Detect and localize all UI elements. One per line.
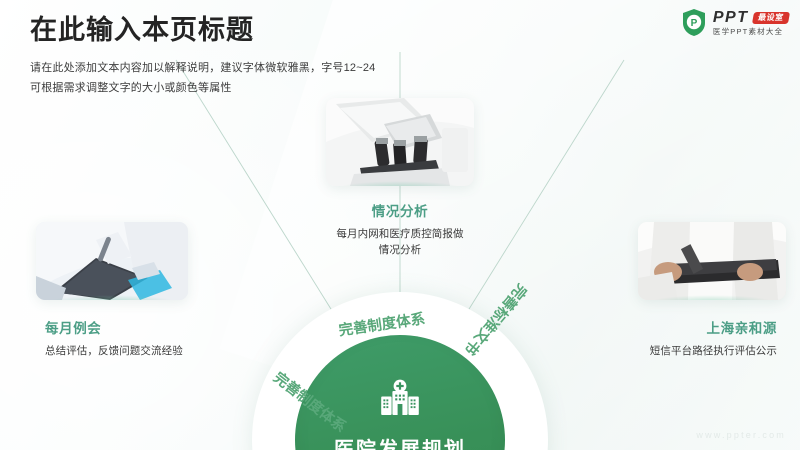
microscope-photo — [326, 98, 474, 186]
logo-badge: 最设室 — [751, 12, 789, 24]
logo-text: PPT 最设室 医学PPT素材大全 — [713, 10, 788, 36]
slide-canvas: 在此输入本页标题 请在此处添加文本内容加以解释说明，建议字体微软雅黑，字号12~… — [0, 0, 800, 450]
brand-logo[interactable]: P PPT 最设室 医学PPT素材大全 — [681, 8, 788, 37]
header: 在此输入本页标题 请在此处添加文本内容加以解释说明，建议字体微软雅黑，字号12~… — [30, 16, 550, 98]
logo-tagline: 医学PPT素材大全 — [713, 28, 788, 36]
card-monthly-meeting[interactable]: 每月例会 总结评估，反馈问题交流经验 — [36, 222, 251, 360]
card-desc-situation-analysis: 每月内网和医疗质控简报做 情况分析 — [279, 227, 521, 259]
card-title-monthly-meeting: 每月例会 — [45, 317, 251, 337]
watermark: www.ppter.com — [696, 430, 786, 440]
shield-icon: P — [681, 8, 707, 37]
subtitle-line-2: 可根据需求调整文字的大小或颜色等属性 — [30, 78, 550, 98]
svg-text:P: P — [691, 18, 698, 29]
card-title-situation-analysis: 情况分析 — [279, 200, 521, 220]
page-title: 在此输入本页标题 — [30, 16, 550, 46]
hospital-icon — [378, 379, 422, 424]
center-hub[interactable]: 医院发展规划 — [252, 292, 548, 450]
card-shanghai-qinheyuan[interactable]: 上海亲和源 短信平台路径执行评估公示 — [586, 222, 786, 360]
doctor-clipboard-photo — [638, 222, 786, 300]
card-desc-shanghai-qinheyuan: 短信平台路径执行评估公示 — [586, 344, 777, 360]
doctor-tablet-photo — [36, 222, 188, 300]
logo-brand-text: PPT — [713, 10, 749, 26]
card-title-shanghai-qinheyuan: 上海亲和源 — [586, 317, 777, 337]
subtitle-line-1: 请在此处添加文本内容加以解释说明，建议字体微软雅黑，字号12~24 — [30, 58, 550, 78]
card-situation-analysis[interactable]: 情况分析 每月内网和医疗质控简报做 情况分析 — [279, 98, 521, 259]
card-desc-monthly-meeting: 总结评估，反馈问题交流经验 — [45, 344, 251, 360]
hub-label: 医院发展规划 — [295, 433, 505, 450]
